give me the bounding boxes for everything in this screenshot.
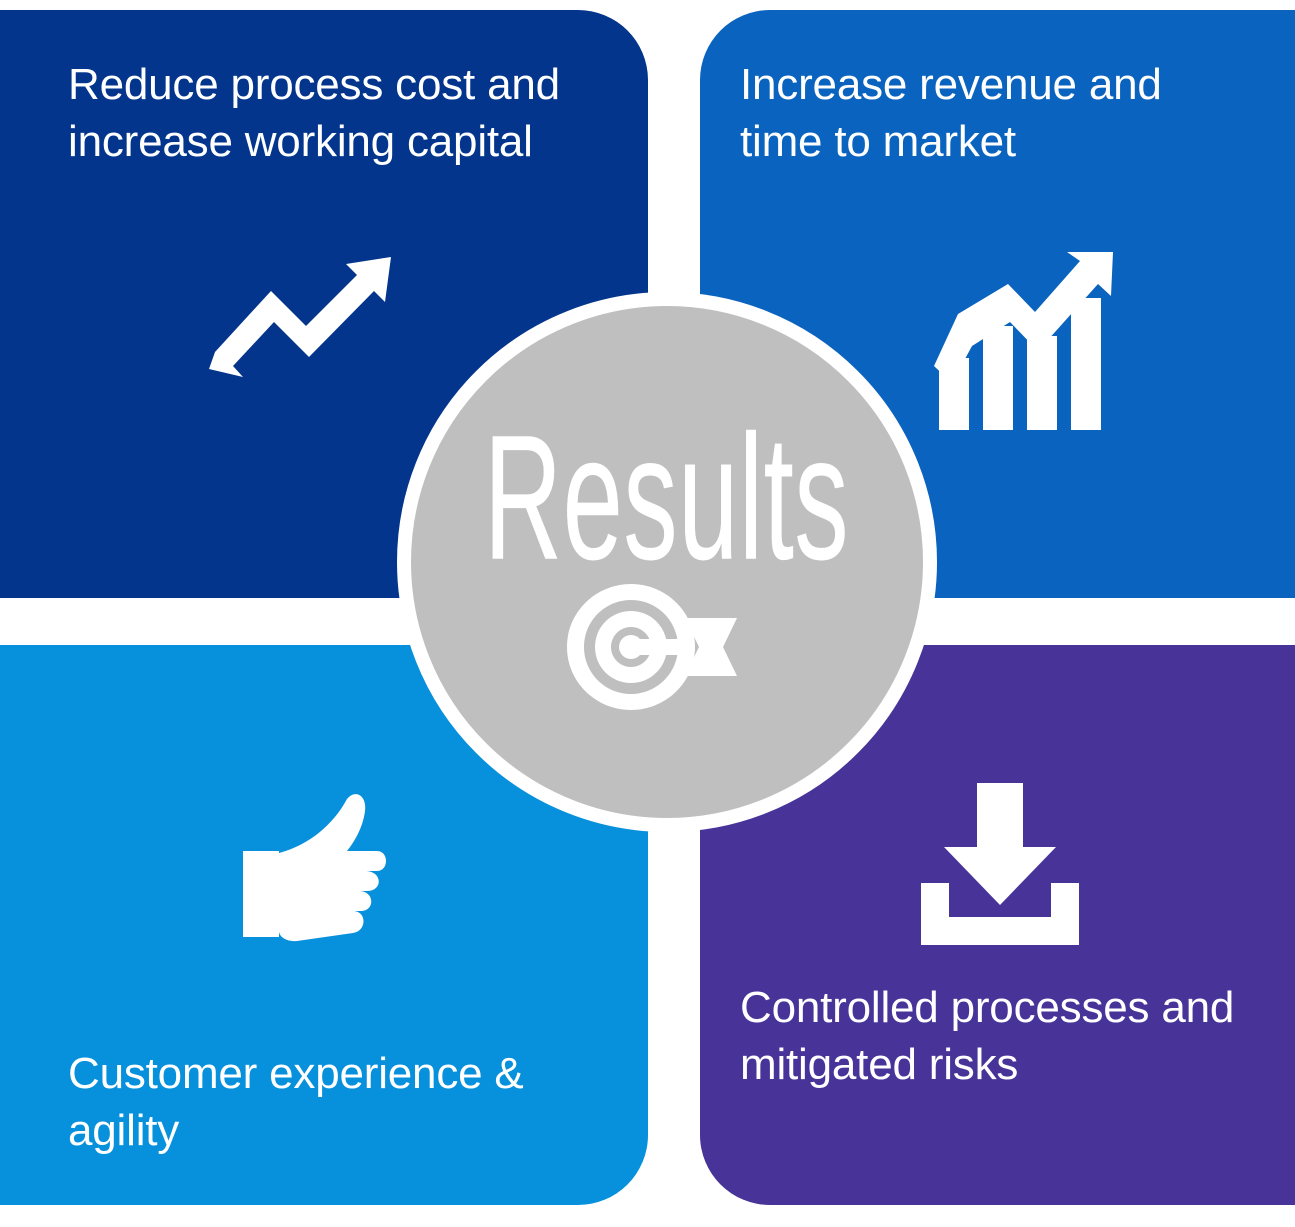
target-arrow-icon <box>567 584 767 710</box>
quadrant-label-reduce-process-cost: Reduce process cost and increase working… <box>68 56 568 170</box>
infographic-canvas: Reduce process cost and increase working… <box>0 0 1295 1227</box>
quadrant-label-controlled-processes: Controlled processes and mitigated risks <box>740 979 1260 1093</box>
quadrant-label-customer-experience: Customer experience & agility <box>68 1045 608 1159</box>
trend-up-arrow-icon <box>205 253 395 383</box>
center-title: Results <box>484 416 849 579</box>
center-hub[interactable]: Results <box>397 292 937 832</box>
thumbs-up-icon <box>237 785 412 965</box>
bar-chart-growth-icon <box>932 250 1117 435</box>
quadrant-label-increase-revenue: Increase revenue and time to market <box>740 56 1240 170</box>
download-tray-icon <box>905 777 1095 952</box>
